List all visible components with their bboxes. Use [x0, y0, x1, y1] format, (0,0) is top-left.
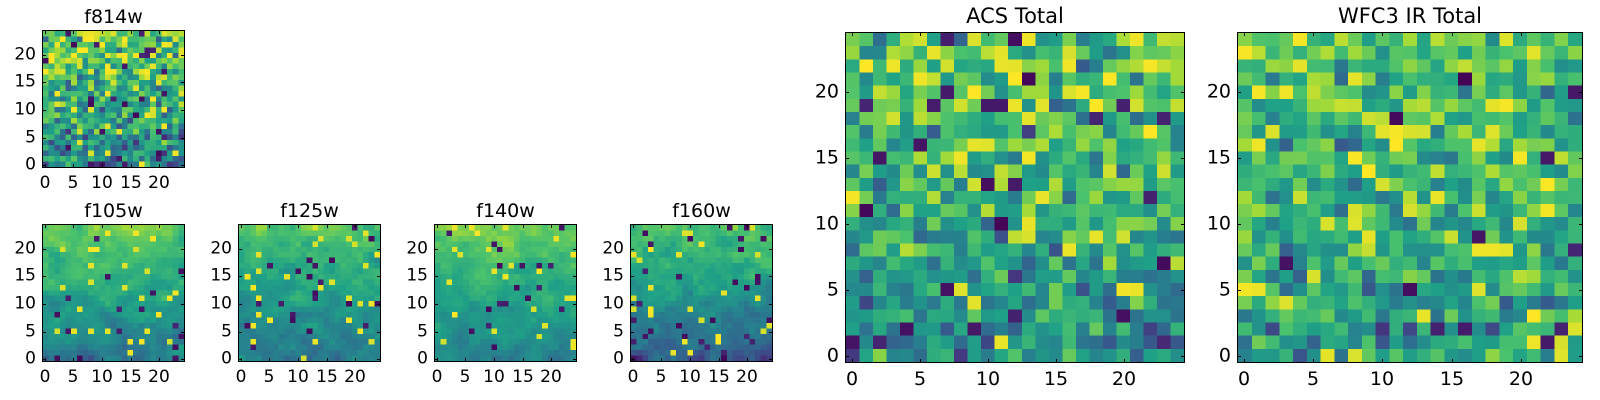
- heatmap-image-acs-total: [846, 33, 1184, 362]
- y-tick-f140w-0: [434, 359, 438, 360]
- x-tick-wfc3-ir-total-15: [1452, 359, 1453, 363]
- x-tick-acs-total-15: [1056, 359, 1057, 363]
- panel-title-f140w: f140w: [434, 202, 577, 221]
- y-tick-f125w-5: [238, 332, 242, 333]
- y-tick-right-f160w-5: [769, 332, 773, 333]
- x-tick-top-wfc3-ir-total-15: [1452, 32, 1453, 36]
- x-ticklabel-acs-total-15: 15: [1044, 370, 1068, 389]
- x-ticklabel-f125w-10: 10: [287, 369, 309, 386]
- x-ticklabel-f125w-20: 20: [344, 369, 366, 386]
- y-ticklabel-f105w-5: 5: [0, 324, 36, 341]
- heatmap-axes-f105w: [42, 224, 185, 362]
- x-tick-acs-total-10: [988, 359, 989, 363]
- x-ticklabel-f125w-15: 15: [316, 369, 338, 386]
- x-tick-f105w-20: [159, 358, 160, 362]
- x-tick-top-f125w-0: [241, 224, 242, 228]
- x-tick-top-f105w-15: [131, 224, 132, 228]
- y-ticklabel-f125w-5: 5: [172, 324, 232, 341]
- x-ticklabel-f140w-5: 5: [460, 369, 471, 386]
- x-ticklabel-wfc3-ir-total-20: 20: [1509, 370, 1533, 389]
- y-ticklabel-f125w-0: 0: [172, 351, 232, 368]
- x-ticklabel-f160w-5: 5: [656, 369, 667, 386]
- y-ticklabel-f160w-0: 0: [564, 351, 624, 368]
- y-tick-acs-total-15: [845, 158, 849, 159]
- x-tick-f125w-20: [355, 358, 356, 362]
- x-ticklabel-acs-total-0: 0: [846, 370, 858, 389]
- y-tick-right-f160w-0: [769, 359, 773, 360]
- x-tick-f814w-10: [102, 164, 103, 168]
- y-tick-right-wfc3-ir-total-15: [1579, 158, 1583, 159]
- y-ticklabel-f105w-0: 0: [0, 351, 36, 368]
- heatmap-axes-acs-total: [845, 32, 1185, 363]
- y-ticklabel-f160w-20: 20: [564, 241, 624, 258]
- x-ticklabel-f140w-20: 20: [540, 369, 562, 386]
- x-ticklabel-f160w-20: 20: [736, 369, 758, 386]
- x-tick-top-acs-total-5: [920, 32, 921, 36]
- y-ticklabel-acs-total-20: 20: [779, 83, 839, 102]
- x-ticklabel-f125w-5: 5: [264, 369, 275, 386]
- x-tick-top-f105w-5: [73, 224, 74, 228]
- y-ticklabel-wfc3-ir-total-0: 0: [1171, 347, 1231, 366]
- x-tick-top-f140w-15: [523, 224, 524, 228]
- y-tick-right-f160w-15: [769, 276, 773, 277]
- x-tick-top-f160w-15: [719, 224, 720, 228]
- x-tick-top-f160w-0: [633, 224, 634, 228]
- x-tick-top-wfc3-ir-total-10: [1382, 32, 1383, 36]
- x-ticklabel-f105w-5: 5: [68, 369, 79, 386]
- x-tick-top-f814w-15: [131, 30, 132, 34]
- x-ticklabel-f125w-0: 0: [236, 369, 247, 386]
- x-tick-top-f814w-20: [159, 30, 160, 34]
- x-tick-top-f160w-10: [690, 224, 691, 228]
- x-tick-f140w-20: [551, 358, 552, 362]
- y-ticklabel-f814w-5: 5: [0, 130, 36, 147]
- x-tick-top-f125w-20: [355, 224, 356, 228]
- y-ticklabel-wfc3-ir-total-15: 15: [1171, 149, 1231, 168]
- heatmap-axes-f814w: [42, 30, 185, 168]
- x-tick-f814w-15: [131, 164, 132, 168]
- x-ticklabel-acs-total-10: 10: [976, 370, 1000, 389]
- y-tick-f814w-15: [42, 82, 46, 83]
- x-tick-f105w-5: [73, 358, 74, 362]
- x-tick-top-wfc3-ir-total-20: [1521, 32, 1522, 36]
- y-tick-wfc3-ir-total-15: [1237, 158, 1241, 159]
- heatmap-image-f160w: [631, 225, 772, 361]
- y-tick-f160w-0: [630, 359, 634, 360]
- x-tick-top-acs-total-0: [852, 32, 853, 36]
- x-ticklabel-acs-total-20: 20: [1112, 370, 1136, 389]
- y-tick-wfc3-ir-total-0: [1237, 356, 1241, 357]
- x-ticklabel-f105w-0: 0: [40, 369, 51, 386]
- x-tick-f105w-15: [131, 358, 132, 362]
- y-tick-f814w-0: [42, 165, 46, 166]
- x-ticklabel-acs-total-5: 5: [914, 370, 926, 389]
- heatmap-axes-wfc3-ir-total: [1237, 32, 1583, 363]
- y-ticklabel-f125w-10: 10: [172, 296, 232, 313]
- y-tick-right-f814w-5: [181, 138, 185, 139]
- y-ticklabel-f105w-10: 10: [0, 296, 36, 313]
- x-ticklabel-f140w-15: 15: [512, 369, 534, 386]
- y-tick-f125w-15: [238, 276, 242, 277]
- y-tick-right-f160w-20: [769, 249, 773, 250]
- x-tick-f160w-5: [661, 358, 662, 362]
- x-tick-top-acs-total-15: [1056, 32, 1057, 36]
- y-tick-acs-total-10: [845, 224, 849, 225]
- x-tick-top-acs-total-10: [988, 32, 989, 36]
- x-tick-wfc3-ir-total-5: [1313, 359, 1314, 363]
- y-tick-acs-total-0: [845, 356, 849, 357]
- y-tick-f140w-15: [434, 276, 438, 277]
- y-ticklabel-f125w-15: 15: [172, 268, 232, 285]
- x-tick-wfc3-ir-total-20: [1521, 359, 1522, 363]
- y-tick-right-wfc3-ir-total-0: [1579, 356, 1583, 357]
- heatmap-image-f125w: [239, 225, 380, 361]
- y-tick-acs-total-5: [845, 290, 849, 291]
- y-tick-acs-total-20: [845, 92, 849, 93]
- x-ticklabel-f160w-0: 0: [628, 369, 639, 386]
- x-tick-f814w-20: [159, 164, 160, 168]
- heatmap-axes-f160w: [630, 224, 773, 362]
- y-ticklabel-wfc3-ir-total-10: 10: [1171, 215, 1231, 234]
- x-tick-top-f125w-15: [327, 224, 328, 228]
- y-tick-f140w-5: [434, 332, 438, 333]
- x-tick-f125w-5: [269, 358, 270, 362]
- y-tick-f105w-20: [42, 249, 46, 250]
- y-tick-f105w-15: [42, 276, 46, 277]
- x-tick-top-wfc3-ir-total-0: [1244, 32, 1245, 36]
- y-ticklabel-f105w-20: 20: [0, 241, 36, 258]
- x-ticklabel-wfc3-ir-total-5: 5: [1307, 370, 1319, 389]
- x-tick-f140w-5: [465, 358, 466, 362]
- x-tick-top-acs-total-20: [1124, 32, 1125, 36]
- figure-canvas: f814w0510152005101520f105w05101520051015…: [0, 0, 1600, 400]
- y-ticklabel-wfc3-ir-total-5: 5: [1171, 281, 1231, 300]
- y-tick-right-wfc3-ir-total-10: [1579, 224, 1583, 225]
- heatmap-image-f814w: [43, 31, 184, 167]
- x-tick-top-f105w-10: [102, 224, 103, 228]
- x-ticklabel-wfc3-ir-total-10: 10: [1370, 370, 1394, 389]
- y-tick-f814w-5: [42, 138, 46, 139]
- x-ticklabel-f160w-10: 10: [679, 369, 701, 386]
- y-tick-right-wfc3-ir-total-5: [1579, 290, 1583, 291]
- y-ticklabel-f140w-20: 20: [368, 241, 428, 258]
- x-tick-f160w-10: [690, 358, 691, 362]
- x-tick-top-f140w-20: [551, 224, 552, 228]
- x-tick-top-f140w-0: [437, 224, 438, 228]
- y-tick-wfc3-ir-total-20: [1237, 92, 1241, 93]
- y-ticklabel-acs-total-15: 15: [779, 149, 839, 168]
- y-ticklabel-f814w-15: 15: [0, 74, 36, 91]
- heatmap-image-f140w: [435, 225, 576, 361]
- x-tick-f814w-5: [73, 164, 74, 168]
- y-ticklabel-f814w-10: 10: [0, 102, 36, 119]
- heatmap-image-f105w: [43, 225, 184, 361]
- x-ticklabel-f140w-0: 0: [432, 369, 443, 386]
- y-ticklabel-acs-total-0: 0: [779, 347, 839, 366]
- x-tick-top-f160w-5: [661, 224, 662, 228]
- heatmap-image-wfc3-ir-total: [1238, 33, 1582, 362]
- y-tick-f160w-20: [630, 249, 634, 250]
- x-ticklabel-f160w-15: 15: [708, 369, 730, 386]
- y-ticklabel-wfc3-ir-total-20: 20: [1171, 83, 1231, 102]
- x-tick-wfc3-ir-total-0: [1244, 359, 1245, 363]
- x-tick-acs-total-20: [1124, 359, 1125, 363]
- y-ticklabel-acs-total-5: 5: [779, 281, 839, 300]
- y-tick-f105w-0: [42, 359, 46, 360]
- y-ticklabel-f814w-0: 0: [0, 157, 36, 174]
- x-ticklabel-f814w-15: 15: [120, 175, 142, 192]
- x-tick-top-f814w-5: [73, 30, 74, 34]
- panel-title-f125w: f125w: [238, 202, 381, 221]
- x-tick-f140w-10: [494, 358, 495, 362]
- panel-title-f105w: f105w: [42, 202, 185, 221]
- y-tick-f160w-15: [630, 276, 634, 277]
- y-tick-wfc3-ir-total-10: [1237, 224, 1241, 225]
- y-tick-f160w-5: [630, 332, 634, 333]
- y-tick-f125w-0: [238, 359, 242, 360]
- x-ticklabel-f814w-0: 0: [40, 175, 51, 192]
- x-tick-top-f125w-10: [298, 224, 299, 228]
- x-tick-f125w-15: [327, 358, 328, 362]
- y-tick-wfc3-ir-total-5: [1237, 290, 1241, 291]
- y-ticklabel-f140w-10: 10: [368, 296, 428, 313]
- y-tick-f140w-10: [434, 304, 438, 305]
- panel-title-acs-total: ACS Total: [845, 6, 1185, 27]
- heatmap-axes-f125w: [238, 224, 381, 362]
- y-ticklabel-f140w-15: 15: [368, 268, 428, 285]
- panel-title-f160w: f160w: [630, 202, 773, 221]
- heatmap-axes-f140w: [434, 224, 577, 362]
- y-ticklabel-f125w-20: 20: [172, 241, 232, 258]
- x-ticklabel-f140w-10: 10: [483, 369, 505, 386]
- x-tick-top-f140w-10: [494, 224, 495, 228]
- y-ticklabel-f160w-10: 10: [564, 296, 624, 313]
- y-tick-right-f814w-15: [181, 82, 185, 83]
- x-tick-acs-total-0: [852, 359, 853, 363]
- x-ticklabel-f814w-10: 10: [91, 175, 113, 192]
- x-tick-top-f105w-0: [45, 224, 46, 228]
- x-ticklabel-f105w-10: 10: [91, 369, 113, 386]
- x-tick-top-f140w-5: [465, 224, 466, 228]
- x-ticklabel-f105w-15: 15: [120, 369, 142, 386]
- x-tick-f160w-15: [719, 358, 720, 362]
- y-ticklabel-f140w-0: 0: [368, 351, 428, 368]
- x-tick-f140w-15: [523, 358, 524, 362]
- x-ticklabel-f105w-20: 20: [148, 369, 170, 386]
- x-tick-top-f814w-0: [45, 30, 46, 34]
- y-tick-right-wfc3-ir-total-20: [1579, 92, 1583, 93]
- x-ticklabel-wfc3-ir-total-0: 0: [1238, 370, 1250, 389]
- y-tick-f160w-10: [630, 304, 634, 305]
- y-tick-right-f160w-10: [769, 304, 773, 305]
- y-tick-right-f814w-10: [181, 110, 185, 111]
- y-tick-f814w-20: [42, 55, 46, 56]
- y-ticklabel-f160w-5: 5: [564, 324, 624, 341]
- x-tick-top-wfc3-ir-total-5: [1313, 32, 1314, 36]
- x-ticklabel-wfc3-ir-total-15: 15: [1440, 370, 1464, 389]
- y-tick-f814w-10: [42, 110, 46, 111]
- x-tick-f105w-10: [102, 358, 103, 362]
- y-ticklabel-f105w-15: 15: [0, 268, 36, 285]
- x-tick-wfc3-ir-total-10: [1382, 359, 1383, 363]
- x-tick-top-f160w-20: [747, 224, 748, 228]
- y-tick-f125w-10: [238, 304, 242, 305]
- y-ticklabel-f814w-20: 20: [0, 47, 36, 64]
- y-ticklabel-f140w-5: 5: [368, 324, 428, 341]
- y-ticklabel-acs-total-10: 10: [779, 215, 839, 234]
- x-ticklabel-f814w-20: 20: [148, 175, 170, 192]
- x-tick-top-f125w-5: [269, 224, 270, 228]
- x-tick-top-f814w-10: [102, 30, 103, 34]
- x-ticklabel-f814w-5: 5: [68, 175, 79, 192]
- x-tick-f125w-10: [298, 358, 299, 362]
- x-tick-f160w-20: [747, 358, 748, 362]
- panel-title-wfc3-ir-total: WFC3 IR Total: [1237, 6, 1583, 27]
- y-tick-f125w-20: [238, 249, 242, 250]
- y-tick-f105w-5: [42, 332, 46, 333]
- y-tick-right-f814w-0: [181, 165, 185, 166]
- panel-title-f814w: f814w: [42, 8, 185, 27]
- y-ticklabel-f160w-15: 15: [564, 268, 624, 285]
- y-tick-f140w-20: [434, 249, 438, 250]
- y-tick-f105w-10: [42, 304, 46, 305]
- x-tick-acs-total-5: [920, 359, 921, 363]
- y-tick-right-f814w-20: [181, 55, 185, 56]
- x-tick-top-f105w-20: [159, 224, 160, 228]
